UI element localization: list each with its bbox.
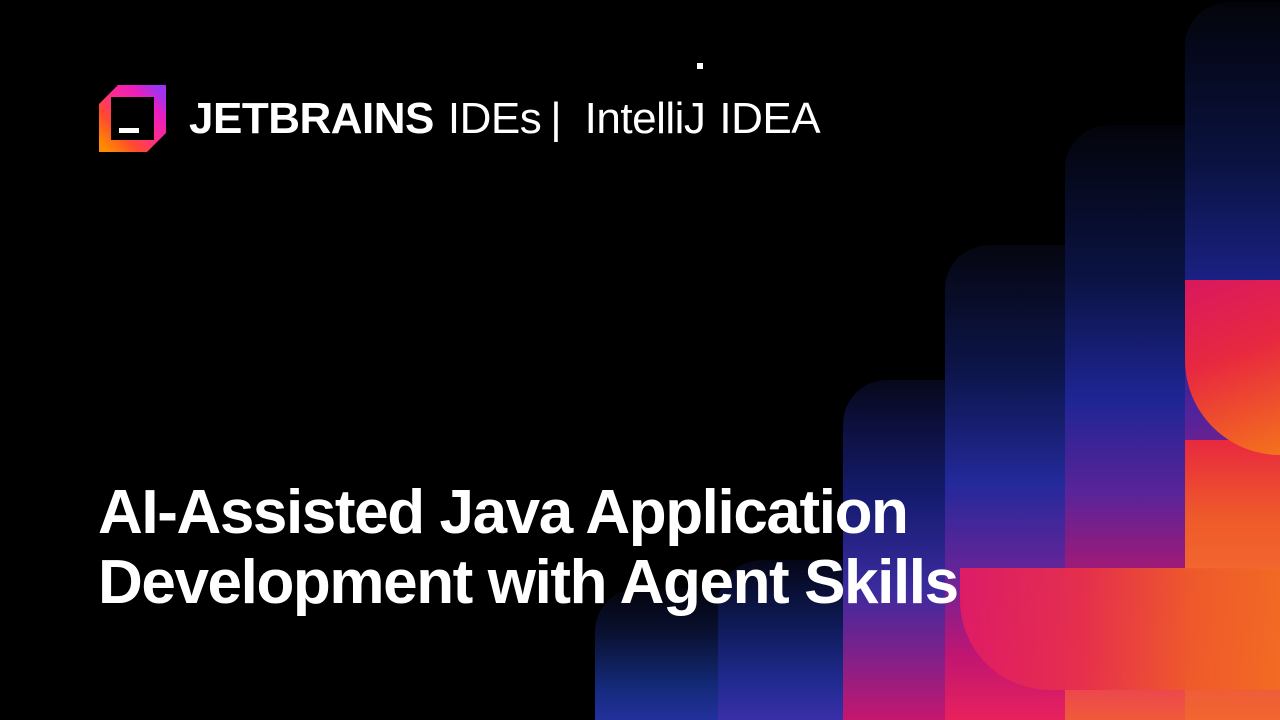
product-name-intellij-stem: Intelli bbox=[585, 94, 684, 143]
gradient-panel-orange bbox=[1185, 280, 1280, 455]
page-title: AI-Assisted Java Application Development… bbox=[98, 478, 1218, 619]
presentation-slide: JETBRAINS IDEs | IntelliJ IDEA AI-Assist… bbox=[0, 0, 1280, 720]
intellij-j-dot-icon bbox=[697, 63, 703, 69]
page-title-line-2: Development with Agent Skills bbox=[98, 548, 1218, 619]
jetbrains-wordmark: JETBRAINS IDEs | IntelliJ IDEA bbox=[189, 97, 820, 141]
intellij-j-glyph: J bbox=[684, 94, 706, 143]
gradient-bar-5 bbox=[1065, 125, 1193, 720]
jetbrains-logo-lockup: JETBRAINS IDEs | IntelliJ IDEA bbox=[98, 84, 820, 153]
wordmark-divider: | bbox=[550, 97, 561, 141]
page-title-line-1: AI-Assisted Java Application bbox=[98, 478, 1218, 549]
product-name-intellij: IntelliJ bbox=[585, 97, 706, 141]
jetbrains-logo-mark-icon bbox=[98, 84, 167, 153]
product-name-intellij-j: J bbox=[684, 97, 706, 141]
product-family-label: IDEs bbox=[448, 97, 541, 141]
product-name-idea: IDEA bbox=[719, 97, 820, 141]
brand-name: JETBRAINS bbox=[189, 97, 434, 141]
